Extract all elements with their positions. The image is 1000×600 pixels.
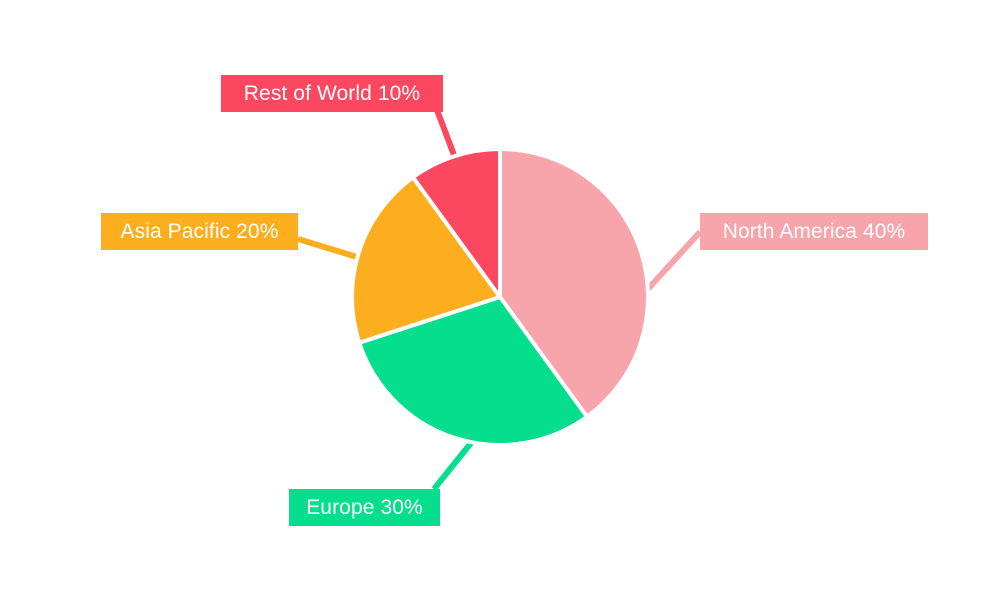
pie-label-europe: Europe 30%: [289, 489, 440, 526]
pie-label-north-america-text: North America 40%: [723, 221, 906, 242]
pie-chart-figure: North America 40% Europe 30% Asia Pacifi…: [0, 0, 1000, 600]
pie-label-north-america: North America 40%: [700, 213, 928, 250]
leader-line-asia-pacific: [298, 239, 357, 257]
pie-label-rest-of-world-text: Rest of World 10%: [244, 83, 420, 104]
pie-label-asia-pacific-text: Asia Pacific 20%: [120, 221, 278, 242]
leader-line-europe: [434, 443, 471, 489]
pie-chart-canvas: [0, 0, 1000, 600]
pie-wedges: [352, 149, 648, 445]
pie-label-asia-pacific: Asia Pacific 20%: [101, 213, 298, 250]
pie-label-europe-text: Europe 30%: [306, 497, 423, 518]
pie-label-rest-of-world: Rest of World 10%: [221, 75, 443, 112]
leader-line-north-america: [646, 232, 700, 291]
